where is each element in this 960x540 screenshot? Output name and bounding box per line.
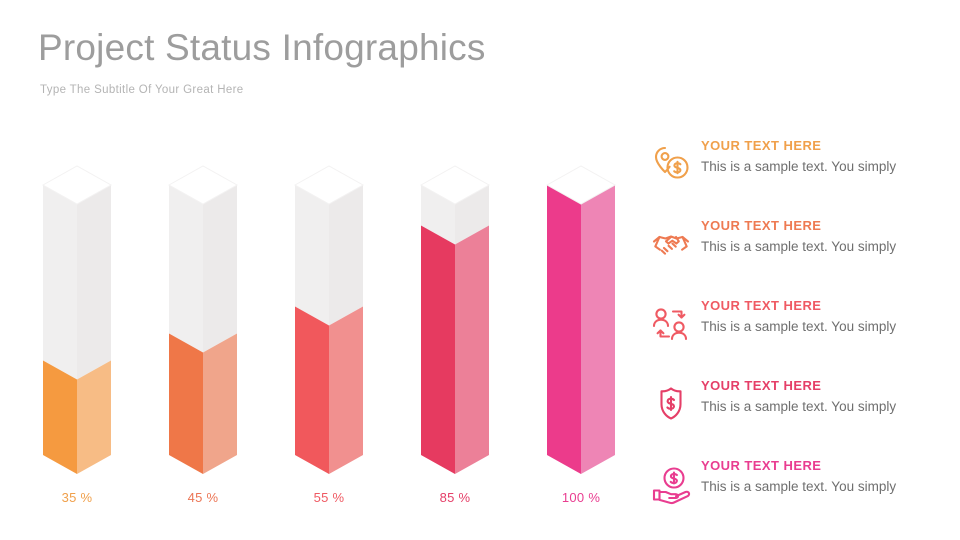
- bar-prism: [43, 0, 111, 540]
- legend-item-heading: YOUR TEXT HERE: [701, 298, 941, 314]
- bar-value-label: 100 %: [547, 490, 615, 505]
- legend-item-body: This is a sample text. You simply: [701, 158, 941, 175]
- bar-value-label: 35 %: [43, 490, 111, 505]
- bar-column[interactable]: 35 %: [43, 0, 111, 540]
- bar-prism: [421, 0, 489, 540]
- hand-holding-coin-icon: [648, 462, 694, 508]
- bar-value-label: 55 %: [295, 490, 363, 505]
- legend-item-body: This is a sample text. You simply: [701, 398, 941, 415]
- isometric-bar-chart: 35 %45 %55 %85 %100 %: [0, 0, 640, 540]
- legend-item-text: YOUR TEXT HEREThis is a sample text. You…: [701, 138, 941, 175]
- legend-item-heading: YOUR TEXT HERE: [701, 458, 941, 474]
- bar-value-label: 45 %: [169, 490, 237, 505]
- bar-column[interactable]: 45 %: [169, 0, 237, 540]
- bar-fill-left-face: [547, 185, 581, 474]
- shield-dollar-icon: [648, 382, 694, 428]
- legend-item-heading: YOUR TEXT HERE: [701, 138, 941, 154]
- bar-prism: [169, 0, 237, 540]
- bar-fill-right-face: [329, 307, 363, 475]
- bar-fill-left-face: [43, 361, 77, 475]
- legend-item-body: This is a sample text. You simply: [701, 478, 941, 495]
- legend-item-heading: YOUR TEXT HERE: [701, 378, 941, 394]
- bar-fill-right-face: [455, 226, 489, 475]
- bar-empty-right-face: [77, 185, 111, 380]
- bar-value-label: 85 %: [421, 490, 489, 505]
- bar-fill-left-face: [295, 307, 329, 475]
- legend-item-body: This is a sample text. You simply: [701, 238, 941, 255]
- legend-item-text: YOUR TEXT HEREThis is a sample text. You…: [701, 458, 941, 495]
- bar-fill-right-face: [203, 334, 237, 475]
- bar-empty-right-face: [329, 185, 363, 326]
- bar-empty-left-face: [295, 185, 329, 326]
- legend-item-text: YOUR TEXT HEREThis is a sample text. You…: [701, 378, 941, 415]
- legend-item-text: YOUR TEXT HEREThis is a sample text. You…: [701, 298, 941, 335]
- location-pin-coin-icon: [648, 142, 694, 188]
- bar-column[interactable]: 55 %: [295, 0, 363, 540]
- bar-fill-left-face: [169, 334, 203, 475]
- legend-item-heading: YOUR TEXT HERE: [701, 218, 941, 234]
- legend-item[interactable]: YOUR TEXT HEREThis is a sample text. You…: [648, 378, 948, 458]
- user-exchange-icon: [648, 302, 694, 348]
- legend-item[interactable]: YOUR TEXT HEREThis is a sample text. You…: [648, 138, 948, 218]
- legend-item[interactable]: YOUR TEXT HEREThis is a sample text. You…: [648, 298, 948, 378]
- bar-column[interactable]: 100 %: [547, 0, 615, 540]
- legend-list: YOUR TEXT HEREThis is a sample text. You…: [648, 138, 948, 538]
- bar-fill-right-face: [581, 185, 615, 474]
- bar-fill-left-face: [421, 226, 455, 475]
- bar-prism: [547, 0, 615, 540]
- bar-empty-left-face: [169, 185, 203, 353]
- legend-item[interactable]: YOUR TEXT HEREThis is a sample text. You…: [648, 458, 948, 538]
- bar-prism: [295, 0, 363, 540]
- legend-item-body: This is a sample text. You simply: [701, 318, 941, 335]
- bar-column[interactable]: 85 %: [421, 0, 489, 540]
- bar-empty-right-face: [203, 185, 237, 353]
- bar-fill-right-face: [77, 361, 111, 475]
- handshake-icon: [648, 222, 694, 268]
- legend-item[interactable]: YOUR TEXT HEREThis is a sample text. You…: [648, 218, 948, 298]
- legend-item-text: YOUR TEXT HEREThis is a sample text. You…: [701, 218, 941, 255]
- bar-empty-left-face: [43, 185, 77, 380]
